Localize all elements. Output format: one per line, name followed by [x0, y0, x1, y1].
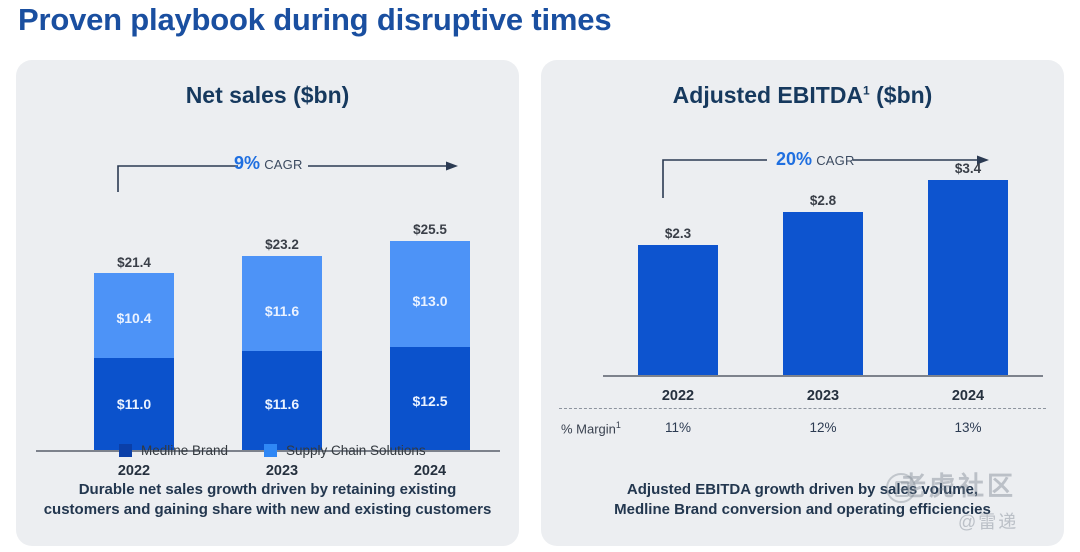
net-sales-bar-2023-medline-label: $11.6	[242, 396, 322, 412]
slide-root: Proven playbook during disruptive times …	[0, 0, 1080, 552]
net-sales-legend-label-supply-chain: Supply Chain Solutions	[286, 443, 426, 458]
margin-value-2024: 13%	[928, 420, 1008, 435]
net-sales-legend-item-supply-chain[interactable]: Supply Chain Solutions	[264, 443, 426, 458]
adjusted-ebitda-cagr-value: 20%	[776, 149, 812, 169]
net-sales-cagr-value: 9%	[234, 153, 260, 173]
adjusted-ebitda-bar-2023	[783, 212, 863, 375]
margin-value-2022: 11%	[638, 420, 718, 435]
adjusted-ebitda-caption-line1: Adjusted EBITDA growth driven by sales v…	[557, 480, 1048, 500]
legend-swatch-dark-icon	[119, 444, 132, 457]
net-sales-xtick-2024: 2024	[390, 463, 470, 479]
adjusted-ebitda-label-2024: $3.4	[928, 161, 1008, 176]
net-sales-bar-2024-supply-chain-label: $13.0	[390, 293, 470, 309]
margin-row-label: % Margin1	[561, 420, 621, 436]
adjusted-ebitda-caption-line2: Medline Brand conversion and operating e…	[557, 500, 1048, 520]
adjusted-ebitda-xtick-2023: 2023	[783, 388, 863, 404]
net-sales-total-label-2023: $23.2	[242, 237, 322, 252]
adjusted-ebitda-axis-line	[603, 375, 1043, 377]
adjusted-ebitda-cagr-word: CAGR	[816, 153, 854, 168]
net-sales-plot: 9% CAGR $21.4 $10.4 $11.0 $23.2 $11.6 $1…	[16, 60, 519, 546]
margin-value-2023: 12%	[783, 420, 863, 435]
adjusted-ebitda-bar-2022	[638, 245, 718, 375]
adjusted-ebitda-cagr-label: 20% CAGR	[776, 149, 855, 170]
legend-swatch-light-icon	[264, 444, 277, 457]
adjusted-ebitda-xtick-2022: 2022	[638, 388, 718, 404]
adjusted-ebitda-plot: 20% CAGR $2.3 $2.8 $3.4 2022 2023 2024 %…	[541, 60, 1064, 546]
net-sales-bar-2024-medline-label: $12.5	[390, 393, 470, 409]
net-sales-total-label-2022: $21.4	[94, 255, 174, 270]
adjusted-ebitda-caption: Adjusted EBITDA growth driven by sales v…	[557, 480, 1048, 521]
net-sales-bar-2022-supply-chain-label: $10.4	[94, 310, 174, 326]
adjusted-ebitda-label-2023: $2.8	[783, 193, 863, 208]
net-sales-panel: Net sales ($bn) 9% CAGR $21.4 $10.4 $11.…	[16, 60, 519, 546]
page-title: Proven playbook during disruptive times	[18, 2, 611, 38]
net-sales-legend-label-medline: Medline Brand	[141, 443, 228, 458]
adjusted-ebitda-xtick-2024: 2024	[928, 388, 1008, 404]
net-sales-total-label-2024: $25.5	[390, 222, 470, 237]
net-sales-xtick-2022: 2022	[94, 463, 174, 479]
net-sales-bar-2023-supply-chain-label: $11.6	[242, 303, 322, 319]
margin-row-divider	[559, 408, 1046, 409]
net-sales-cagr-word: CAGR	[264, 157, 302, 172]
net-sales-xtick-2023: 2023	[242, 463, 322, 479]
margin-row-label-text: % Margin	[561, 421, 616, 436]
net-sales-caption-line1: Durable net sales growth driven by retai…	[32, 480, 503, 500]
net-sales-bar-2022-medline-label: $11.0	[94, 396, 174, 412]
net-sales-cagr-label: 9% CAGR	[234, 153, 303, 174]
margin-row-label-footnote: 1	[616, 420, 621, 430]
adjusted-ebitda-panel: Adjusted EBITDA1 ($bn) 20% CAGR $2.3 $2.…	[541, 60, 1064, 546]
net-sales-caption: Durable net sales growth driven by retai…	[32, 480, 503, 521]
net-sales-caption-line2: customers and gaining share with new and…	[32, 500, 503, 520]
net-sales-legend-item-medline[interactable]: Medline Brand	[119, 443, 228, 458]
adjusted-ebitda-label-2022: $2.3	[638, 226, 718, 241]
adjusted-ebitda-bar-2024	[928, 180, 1008, 375]
